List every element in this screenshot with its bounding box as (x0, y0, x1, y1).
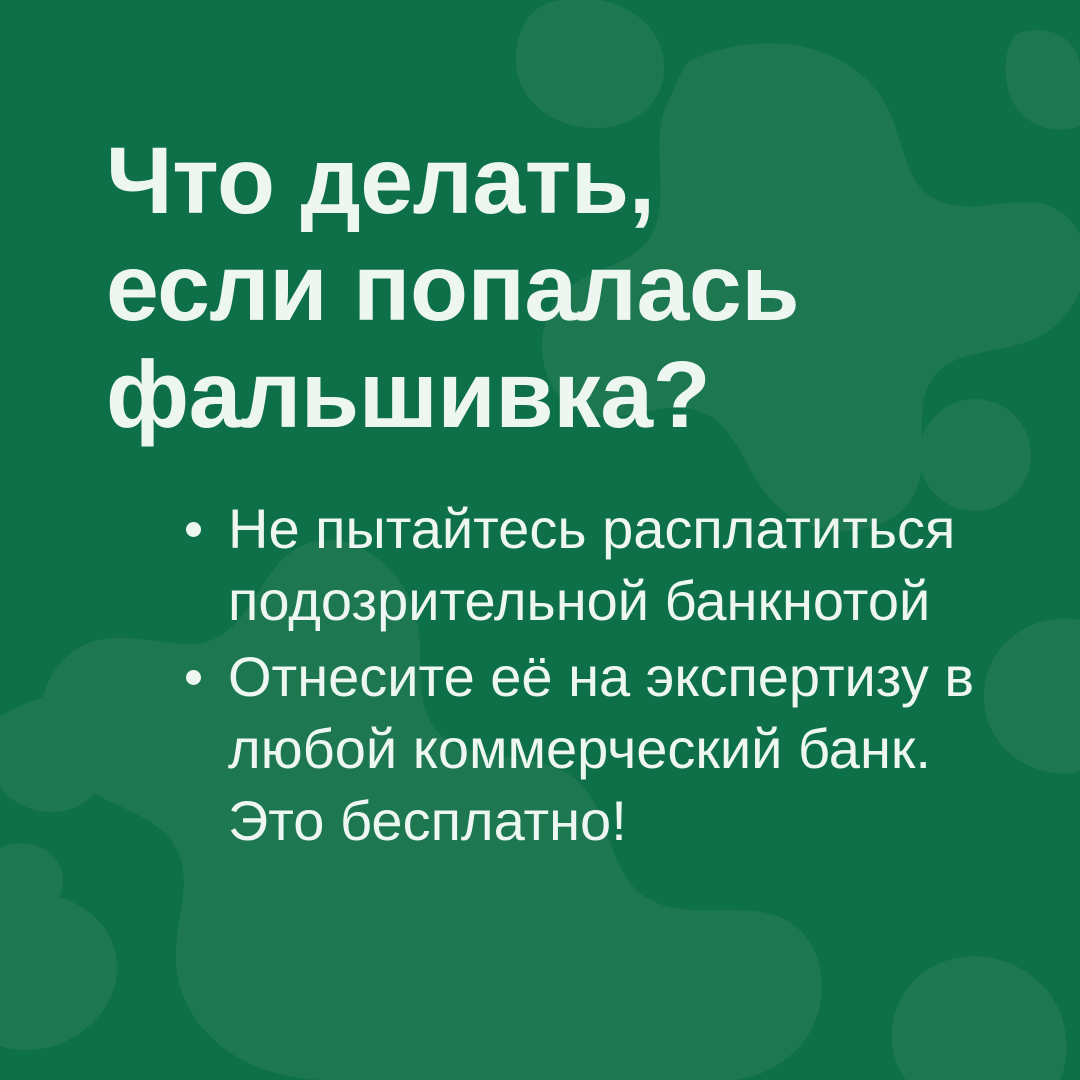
info-card: Что делать, если попалась фальшивка? Не … (0, 0, 1080, 1080)
list-item: Отнесите её на экспертизу в любой коммер… (186, 641, 1016, 857)
list-item-text: Отнесите её на экспертизу в любой коммер… (228, 641, 1016, 857)
bullet-dot-icon (186, 522, 201, 537)
advice-list: Не пытайтесь расплатиться подозрительной… (186, 493, 1016, 861)
list-item-text: Не пытайтесь расплатиться подозрительной… (228, 493, 1016, 637)
page-title: Что делать, если попалась фальшивка? (106, 128, 986, 449)
card-content: Что делать, если попалась фальшивка? Не … (0, 0, 1080, 1080)
list-item: Не пытайтесь расплатиться подозрительной… (186, 493, 1016, 637)
bullet-dot-icon (186, 670, 201, 685)
